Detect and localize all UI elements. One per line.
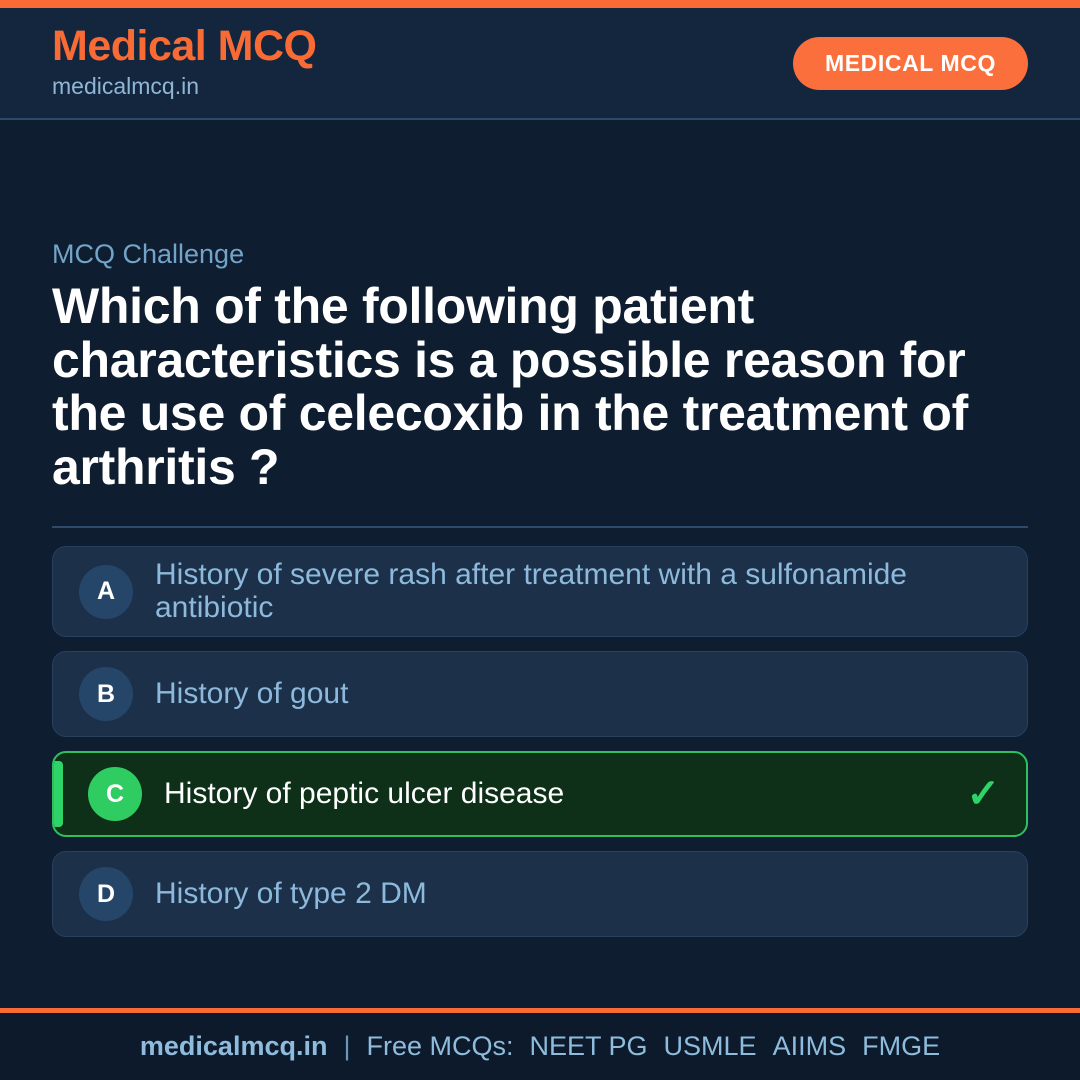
option-d[interactable]: D History of type 2 DM ✓: [52, 851, 1028, 937]
option-letter-badge: D: [79, 867, 133, 921]
footer-separator: |: [343, 1031, 350, 1062]
footer-exam-fmge[interactable]: FMGE: [862, 1031, 940, 1062]
option-text: History of severe rash after treatment w…: [155, 559, 1001, 624]
footer-label: Free MCQs:: [366, 1031, 513, 1062]
top-accent-bar: [0, 0, 1080, 8]
footer-exam-neetpg[interactable]: NEET PG: [530, 1031, 648, 1062]
eyebrow-label: MCQ Challenge: [52, 238, 1028, 270]
option-text: History of type 2 DM: [155, 878, 1001, 910]
footer-text: medicalmcq.in | Free MCQs: NEET PG USMLE…: [140, 1031, 940, 1062]
option-letter-badge: B: [79, 667, 133, 721]
options-list: A History of severe rash after treatment…: [52, 546, 1028, 937]
option-c[interactable]: C History of peptic ulcer disease ✓: [52, 751, 1028, 837]
brand: Medical MCQ medicalmcq.in: [52, 24, 317, 102]
main-content: MCQ Challenge Which of the following pat…: [0, 120, 1080, 1008]
option-letter-badge: A: [79, 565, 133, 619]
question-text: Which of the following patient character…: [52, 280, 1027, 494]
page-footer: medicalmcq.in | Free MCQs: NEET PG USMLE…: [0, 1008, 1080, 1080]
option-text: History of gout: [155, 678, 1001, 710]
divider: [52, 526, 1028, 528]
option-a[interactable]: A History of severe rash after treatment…: [52, 546, 1028, 637]
option-b[interactable]: B History of gout ✓: [52, 651, 1028, 737]
check-icon: ✓: [966, 774, 1000, 814]
footer-exam-usmle[interactable]: USMLE: [664, 1031, 757, 1062]
option-text: History of peptic ulcer disease: [164, 778, 960, 810]
page-header: Medical MCQ medicalmcq.in MEDICAL MCQ: [0, 8, 1080, 120]
brand-subtitle: medicalmcq.in: [52, 71, 317, 102]
brand-title: Medical MCQ: [52, 24, 317, 69]
option-letter-badge: C: [88, 767, 142, 821]
header-badge: MEDICAL MCQ: [793, 37, 1028, 90]
mcq-card: Medical MCQ medicalmcq.in MEDICAL MCQ MC…: [0, 0, 1080, 1080]
footer-site-link[interactable]: medicalmcq.in: [140, 1031, 328, 1062]
correct-accent-bar: [54, 761, 63, 827]
footer-exam-aiims[interactable]: AIIMS: [773, 1031, 847, 1062]
